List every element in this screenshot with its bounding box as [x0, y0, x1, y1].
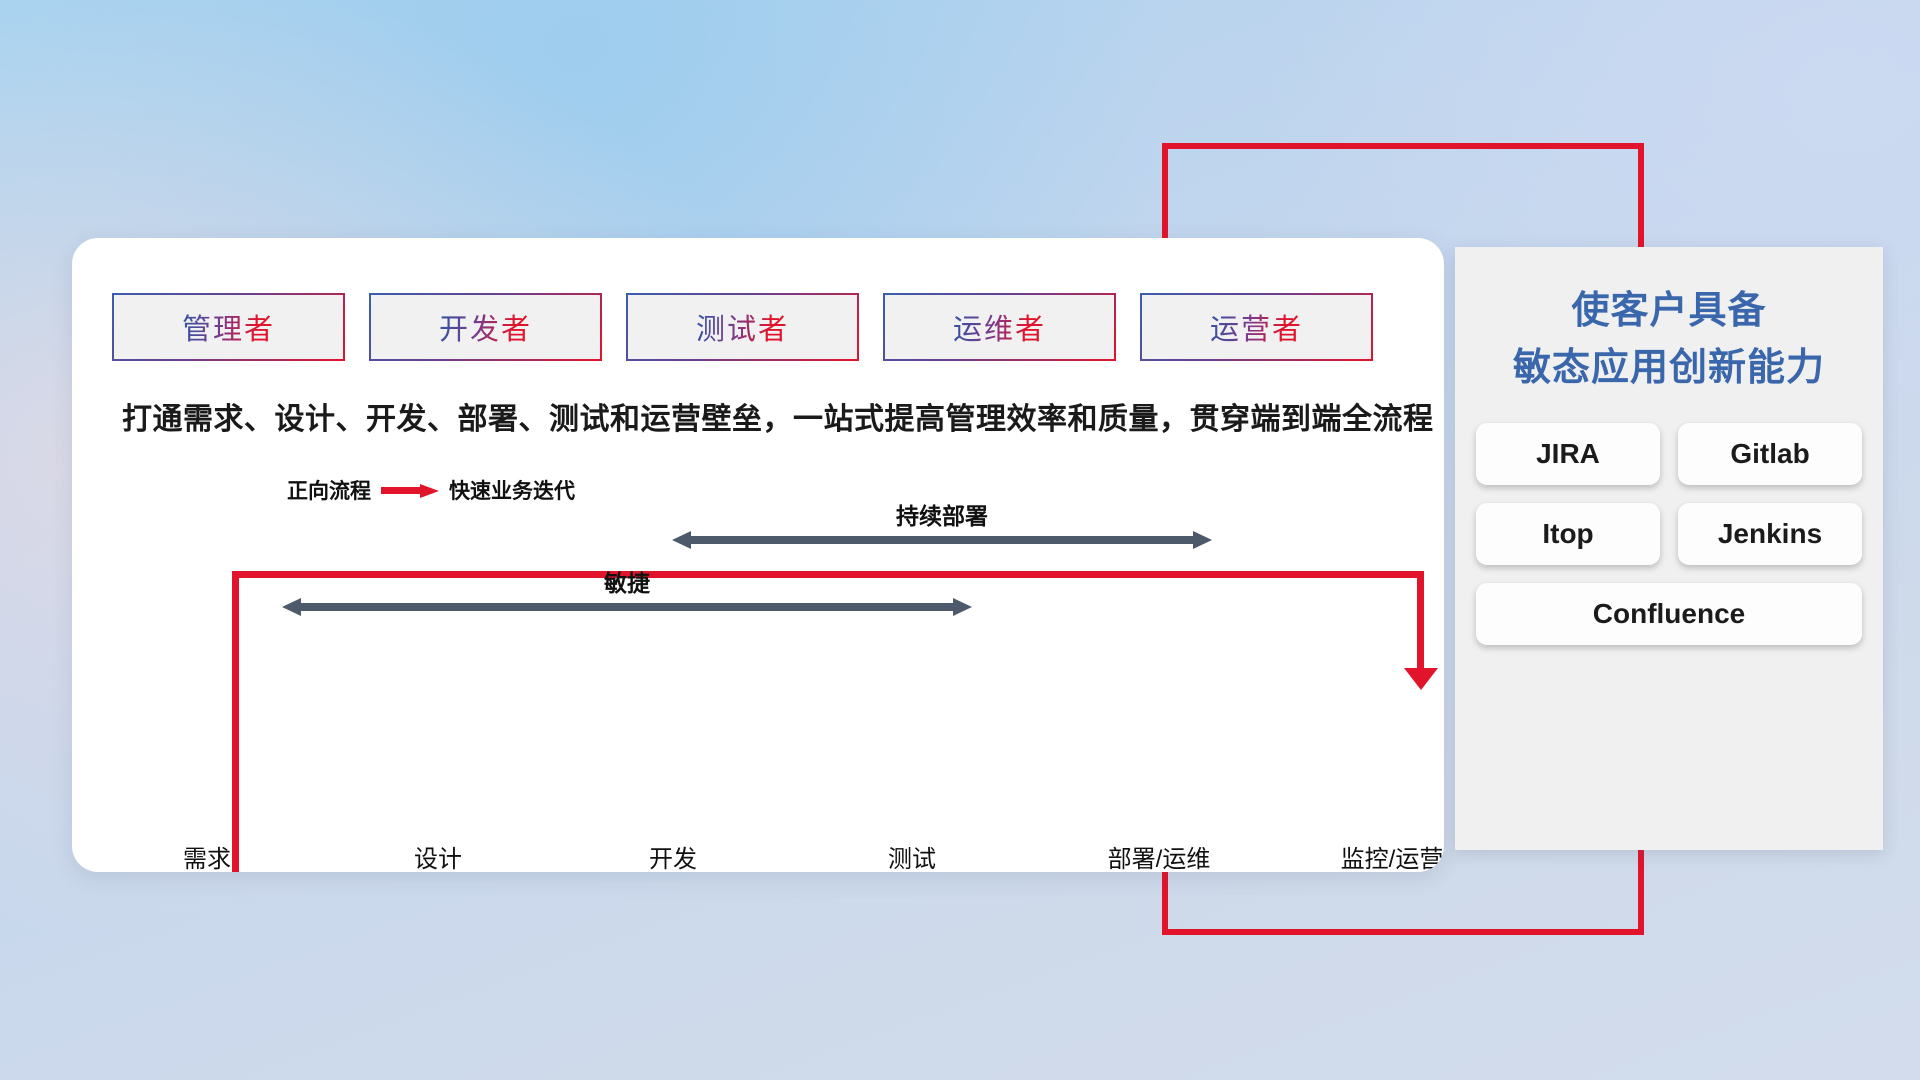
tool-chip-jira[interactable]: JIRA [1476, 423, 1660, 485]
value-proposition-panel: 使客户具备 敏态应用创新能力 JIRA Gitlab Itop Jenkins … [1455, 247, 1883, 850]
panel-title-line-2: 敏态应用创新能力 [1455, 340, 1883, 397]
tool-chip-label: Gitlab [1730, 438, 1809, 470]
panel-title-line-1: 使客户具备 [1455, 283, 1883, 340]
slide-canvas: 管理者 开发者 测试者 运维者 运营者 打通需求、设计、开发、部署、测试和运营壁… [0, 0, 1920, 1080]
panel-title: 使客户具备 敏态应用创新能力 [1455, 283, 1883, 397]
pipeline-node-label: 设计 [414, 839, 462, 872]
pipeline-node-label: 开发 [649, 839, 697, 872]
pipeline-node-label: 测试 [888, 839, 936, 872]
tool-chip-grid: JIRA Gitlab Itop Jenkins Confluence [1471, 423, 1867, 645]
tool-chip-label: Confluence [1593, 598, 1745, 630]
pipeline-node-label: 需求 [183, 839, 231, 872]
pipeline-node-label: 部署/运维 [1108, 839, 1211, 872]
tool-chip-label: JIRA [1536, 438, 1600, 470]
pipeline-track: 需求 设计 开发 测试 部署/运维 监控/运营 [72, 238, 1444, 872]
main-content-card: 管理者 开发者 测试者 运维者 运营者 打通需求、设计、开发、部署、测试和运营壁… [72, 238, 1444, 872]
tool-chip-label: Jenkins [1718, 518, 1822, 550]
pipeline-node-label: 监控/运营 [1341, 839, 1444, 872]
tool-chip-confluence[interactable]: Confluence [1476, 583, 1862, 645]
tool-chip-label: Itop [1542, 518, 1593, 550]
tool-chip-gitlab[interactable]: Gitlab [1678, 423, 1862, 485]
tool-chip-jenkins[interactable]: Jenkins [1678, 503, 1862, 565]
tool-chip-itop[interactable]: Itop [1476, 503, 1660, 565]
